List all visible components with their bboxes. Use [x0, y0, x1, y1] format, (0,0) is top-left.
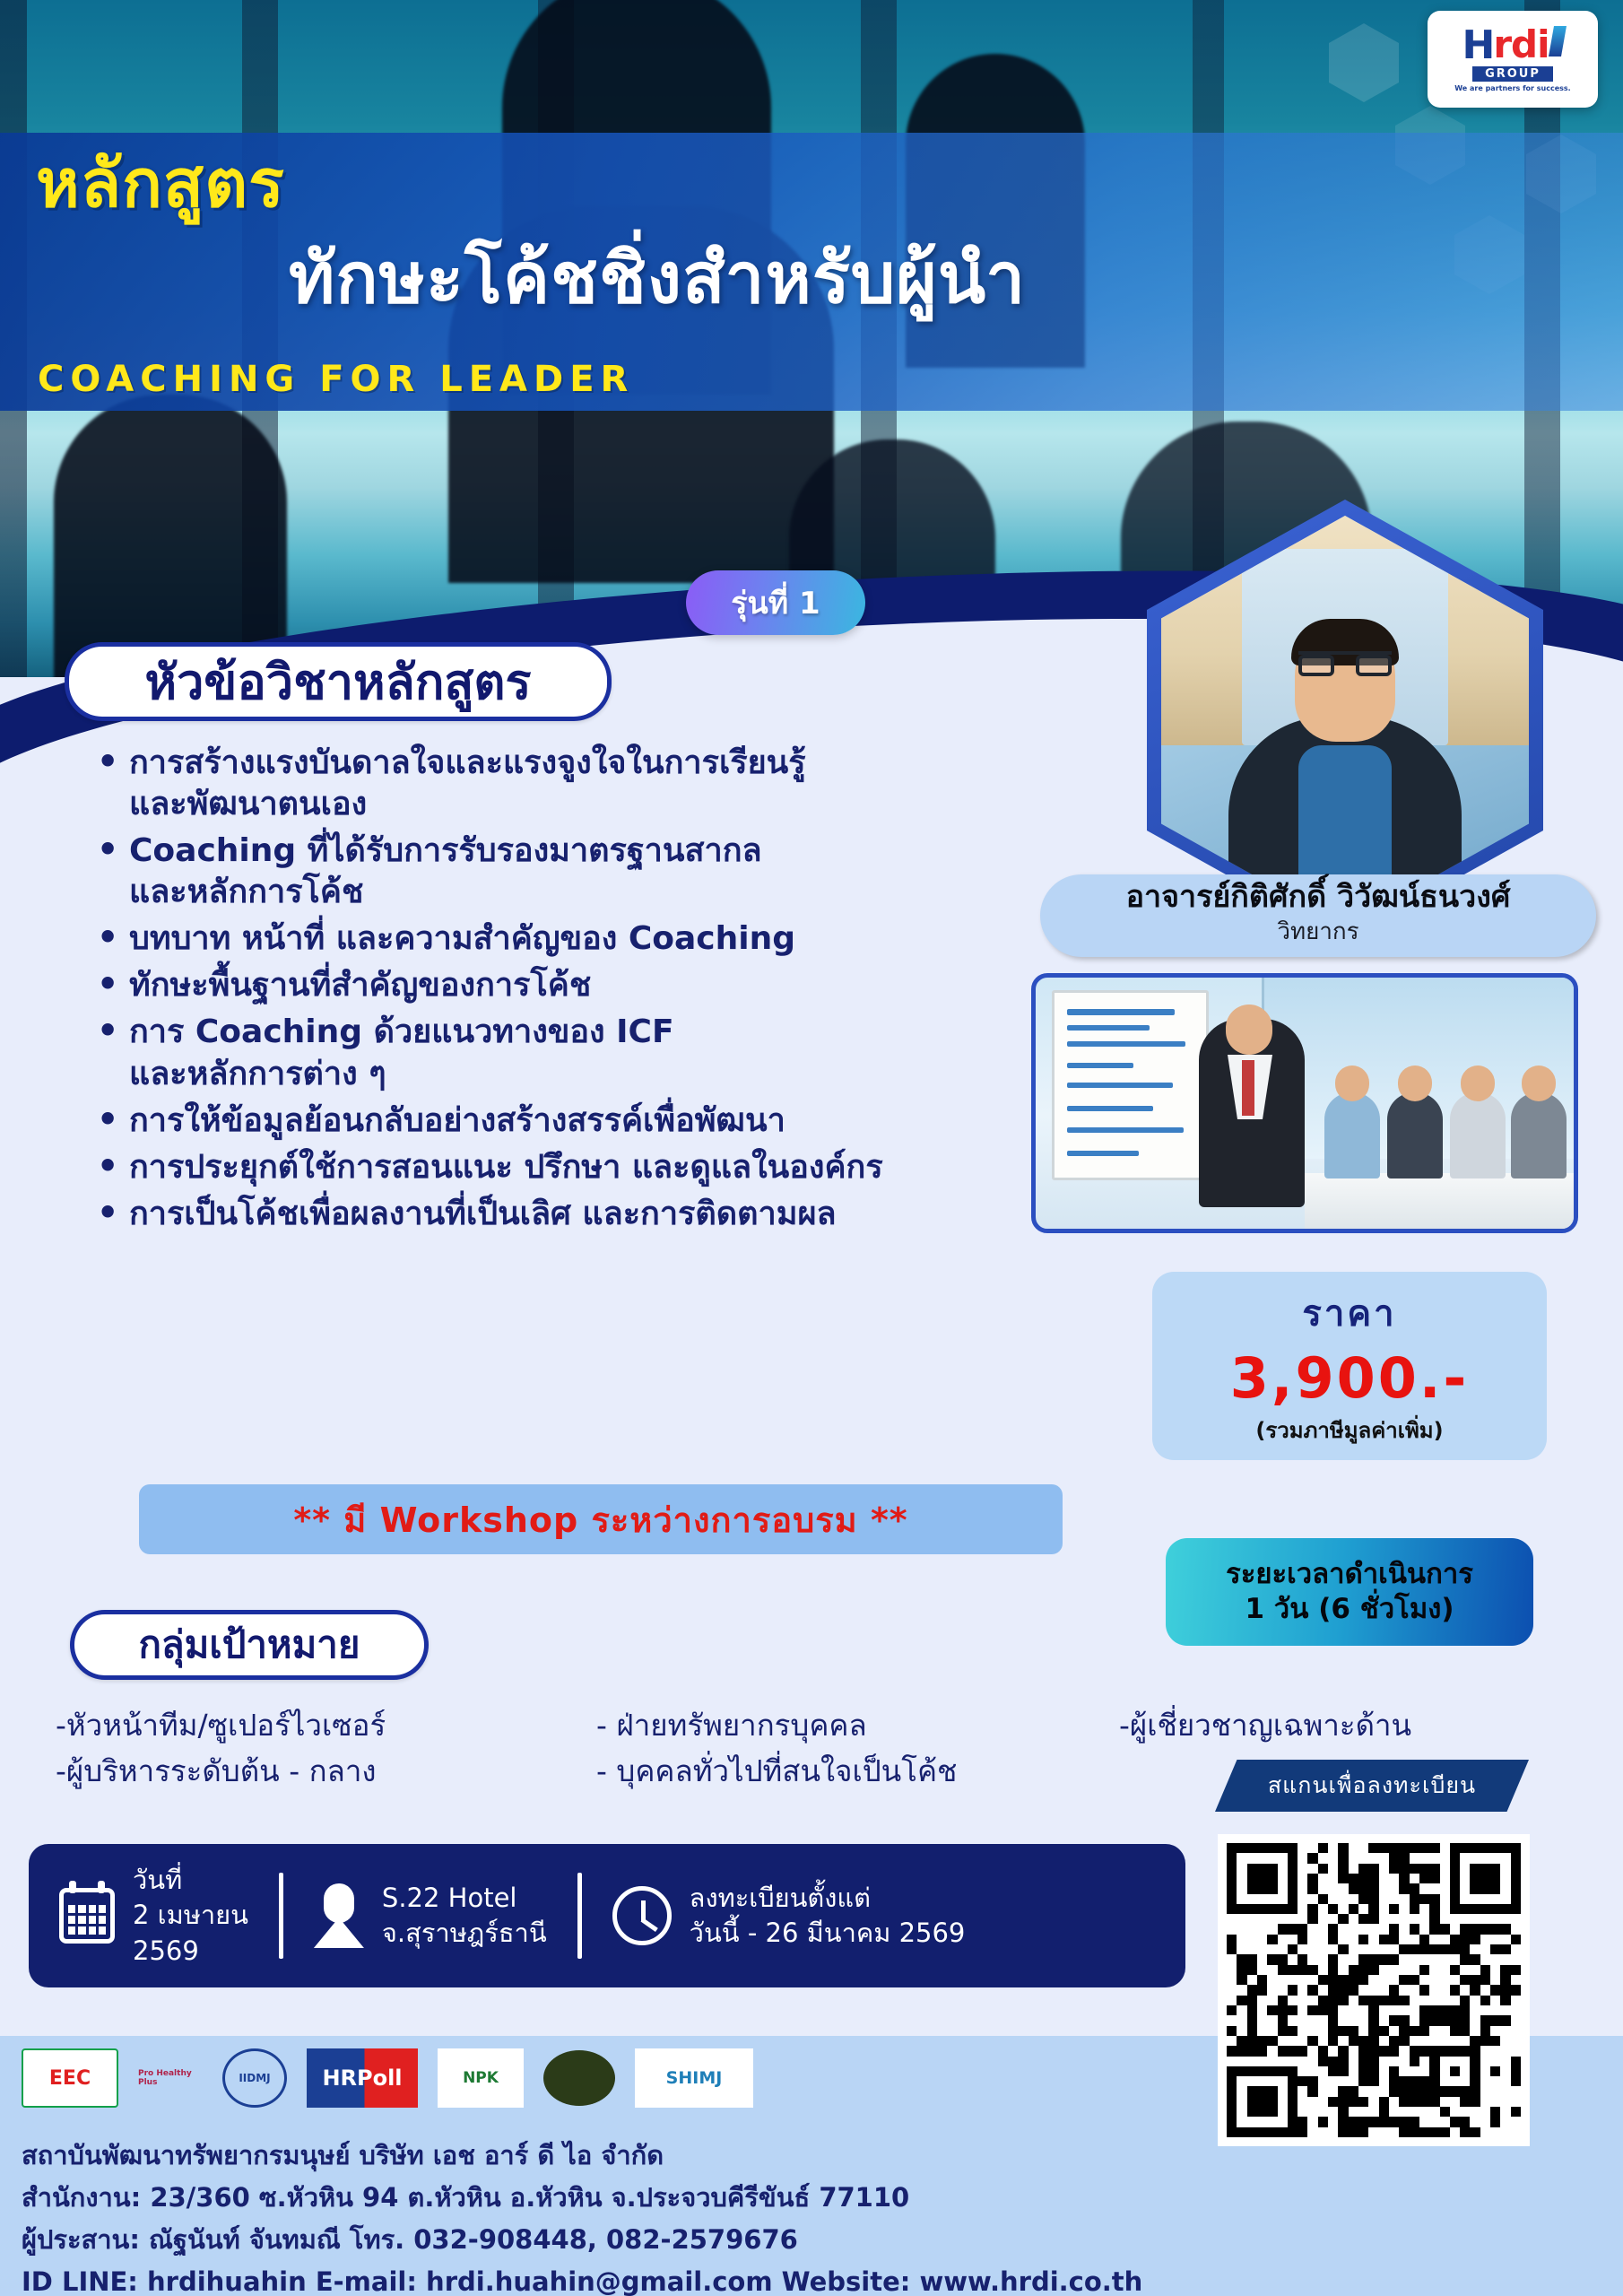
- event-registration-text: ลงทะเบียนตั้งแต่ วันนี้ - 26 มีนาคม 2569: [690, 1881, 966, 1951]
- training-session-photo: [1031, 973, 1578, 1233]
- event-date-text: วันที่ 2 เมษายน 2569: [133, 1863, 248, 1968]
- photo-flipchart: [1052, 990, 1209, 1180]
- list-item: Coaching ที่ได้รับการรับรองมาตรฐานสากล แ…: [90, 831, 1040, 913]
- event-venue-text: S.22 Hotel จ.สุราษฎร์ธานี: [382, 1881, 547, 1951]
- footer-contact: สถาบันพัฒนาทรัพยากรมนุษย์ บริษัท เอช อาร…: [22, 2135, 1609, 2296]
- event-venue-cell: S.22 Hotel จ.สุราษฎร์ธานี: [283, 1881, 577, 1951]
- footer-contact-person: ผู้ประสาน: ณัฐนันท์ จันทมณี โทร. 032-908…: [22, 2219, 1609, 2261]
- photo-attendee: [1324, 1092, 1380, 1178]
- partner-logo-hrpoll: HRPoll: [307, 2048, 418, 2108]
- calendar-icon: [59, 1888, 115, 1944]
- glasses-icon: [1298, 651, 1392, 673]
- list-item: การ Coaching ด้วยแนวทางของ ICF และหลักกา…: [90, 1012, 1040, 1094]
- partner-logo-eec: EEC: [22, 2048, 118, 2108]
- topic-line-1: การ Coaching ด้วยแนวทางของ ICF: [129, 1013, 674, 1050]
- list-item: บทบาท หน้าที่ และความสำคัญของ Coaching: [90, 918, 1040, 960]
- workshop-note: ** มี Workshop ระหว่างการอบรม **: [139, 1484, 1063, 1554]
- venue-province: จ.สุราษฎร์ธานี: [382, 1916, 547, 1951]
- partner-logo-pro-healthy-plus: Pro Healthy Plus: [138, 2048, 203, 2108]
- event-info-bar: วันที่ 2 เมษายน 2569 S.22 Hotel จ.สุราษฎ…: [29, 1844, 1185, 1987]
- hero-silhouette: [54, 395, 287, 677]
- registration-label: ลงทะเบียนตั้งแต่: [690, 1881, 966, 1916]
- hrdi-logo-flag-icon: [1549, 26, 1567, 57]
- event-registration-cell: ลงทะเบียนตั้งแต่ วันนี้ - 26 มีนาคม 2569: [582, 1881, 996, 1951]
- topics-list: การสร้างแรงบันดาลใจและแรงจูงใจในการเรียน…: [90, 743, 1040, 1240]
- list-item: ทักษะพื้นฐานที่สำคัญของการโค้ช: [90, 965, 1040, 1006]
- hrdi-logo-group: GROUP: [1472, 66, 1553, 82]
- instructor-role: วิทยากร: [1277, 913, 1358, 950]
- list-item: การสร้างแรงบันดาลใจและแรงจูงใจในการเรียน…: [90, 743, 1040, 825]
- topic-line-2: และพัฒนาตนเอง: [129, 784, 1040, 825]
- event-date-year: 2569: [133, 1934, 248, 1969]
- hrdi-logo: H rdi GROUP We are partners for success.: [1428, 11, 1598, 108]
- topic-line-1: Coaching ที่ได้รับการรับรองมาตรฐานสากล: [129, 832, 762, 869]
- topic-line-1: การเป็นโค้ชเพื่อผลงานที่เป็นเลิศ และการต…: [129, 1196, 837, 1232]
- topic-line-1: การให้ข้อมูลย้อนกลับอย่างสร้างสรรค์เพื่อ…: [129, 1102, 785, 1139]
- hero-kicker: หลักสูตร: [36, 151, 285, 217]
- topics-heading: หัวข้อวิชาหลักสูตร: [65, 642, 612, 721]
- photo-attendee: [1511, 1092, 1567, 1178]
- target-group-column-3: -ผู้เชี่ยวชาญเฉพาะด้าน: [1119, 1702, 1603, 1748]
- topic-line-2: และหลักการต่าง ๆ: [129, 1054, 1040, 1095]
- poster-root: หลักสูตร ทักษะโค้ชชิ่งสำหรับผู้นำ COACHI…: [0, 0, 1623, 2296]
- duration-value: 1 วัน (6 ชั่วโมง): [1245, 1592, 1454, 1627]
- hrdi-logo-h: H: [1462, 26, 1493, 65]
- target-group-item: -ผู้บริหารระดับต้น - กลาง: [56, 1748, 594, 1794]
- duration-box: ระยะเวลาดำเนินการ 1 วัน (6 ชั่วโมง): [1166, 1538, 1533, 1646]
- photo-presenter-head: [1226, 1004, 1272, 1055]
- target-group-item: - ฝ่ายทรัพยากรบุคคล: [596, 1702, 1116, 1748]
- topic-line-1: การสร้างแรงบันดาลใจและแรงจูงใจในการเรียน…: [129, 744, 806, 781]
- event-date-label: วันที่: [133, 1863, 248, 1898]
- hrdi-logo-wordmark: H rdi: [1462, 26, 1563, 65]
- instructor-name: อาจารย์กิติศักดิ์ วิวัฒน์ธนวงศ์: [1126, 882, 1511, 914]
- footer-channels: ID LINE: hrdihuahin E-mail: hrdi.huahin@…: [22, 2261, 1609, 2296]
- target-group-item: -หัวหน้าทีม/ซูเปอร์ไวเซอร์: [56, 1702, 594, 1748]
- event-date-cell: วันที่ 2 เมษายน 2569: [29, 1863, 279, 1968]
- list-item: การประยุกต์ใช้การสอนแนะ ปรึกษา และดูแลใน…: [90, 1147, 1040, 1188]
- price-label: ราคา: [1302, 1284, 1396, 1342]
- target-group-heading: กลุ่มเป้าหมาย: [70, 1610, 429, 1680]
- partner-logo-shimj: SHIMJ: [635, 2048, 753, 2108]
- qr-caption: สแกนเพื่อลงทะเบียน: [1215, 1760, 1529, 1812]
- topic-line-1: การประยุกต์ใช้การสอนแนะ ปรึกษา และดูแลใน…: [129, 1149, 883, 1186]
- photo-presenter-tie: [1242, 1060, 1254, 1116]
- photo-attendee: [1387, 1092, 1443, 1178]
- batch-badge: รุ่นที่ 1: [686, 570, 865, 635]
- event-date-value: 2 เมษายน: [133, 1898, 248, 1933]
- target-group-column-2: - ฝ่ายทรัพยากรบุคคล - บุคคลทั่วไปที่สนใจ…: [596, 1702, 1116, 1794]
- partner-logo-hotel: [543, 2050, 615, 2106]
- price-box: ราคา 3,900.- (รวมภาษีมูลค่าเพิ่ม): [1152, 1272, 1547, 1460]
- topic-line-1: ทักษะพื้นฐานที่สำคัญของการโค้ช: [129, 967, 591, 1004]
- photo-attendee: [1450, 1092, 1506, 1178]
- page-title: ทักษะโค้ชชิ่งสำหรับผู้นำ: [289, 244, 1026, 314]
- page-subtitle-english: COACHING FOR LEADER: [38, 359, 634, 400]
- hrdi-logo-tagline: We are partners for success.: [1454, 84, 1570, 92]
- target-group-item: -ผู้เชี่ยวชาญเฉพาะด้าน: [1119, 1702, 1603, 1748]
- price-amount: 3,900.-: [1230, 1345, 1469, 1411]
- partner-logo-row: EEC Pro Healthy Plus IIDMJ HRPoll NPK SH…: [22, 2048, 753, 2108]
- registration-value: วันนี้ - 26 มีนาคม 2569: [690, 1916, 966, 1951]
- list-item: การเป็นโค้ชเพื่อผลงานที่เป็นเลิศ และการต…: [90, 1194, 1040, 1235]
- price-vat-note: (รวมภาษีมูลค่าเพิ่ม): [1255, 1413, 1443, 1448]
- qr-code[interactable]: [1218, 1834, 1530, 2146]
- target-group-item: - บุคคลทั่วไปที่สนใจเป็นโค้ช: [596, 1748, 1116, 1794]
- qr-code-matrix: [1227, 1843, 1521, 2137]
- topic-line-1: บทบาท หน้าที่ และความสำคัญของ Coaching: [129, 920, 795, 957]
- partner-logo-npk: NPK: [438, 2048, 524, 2108]
- partner-logo-iidmj: IIDMJ: [222, 2048, 287, 2108]
- clock-icon: [612, 1886, 672, 1945]
- topic-line-2: และหลักการโค้ช: [129, 872, 1040, 913]
- instructor-name-bar: อาจารย์กิติศักดิ์ วิวัฒน์ธนวงศ์ วิทยากร: [1040, 874, 1596, 957]
- list-item: การให้ข้อมูลย้อนกลับอย่างสร้างสรรค์เพื่อ…: [90, 1100, 1040, 1142]
- footer-address: สำนักงาน: 23/360 ซ.หัวหิน 94 ต.หัวหิน อ.…: [22, 2177, 1609, 2219]
- photo-table: [1305, 1173, 1578, 1229]
- target-group-column-1: -หัวหน้าทีม/ซูเปอร์ไวเซอร์ -ผู้บริหารระด…: [56, 1702, 594, 1794]
- duration-label: ระยะเวลาดำเนินการ: [1226, 1557, 1473, 1592]
- hrdi-logo-rdi: rdi: [1493, 26, 1549, 64]
- venue-name: S.22 Hotel: [382, 1881, 547, 1916]
- location-pin-icon: [314, 1883, 364, 1948]
